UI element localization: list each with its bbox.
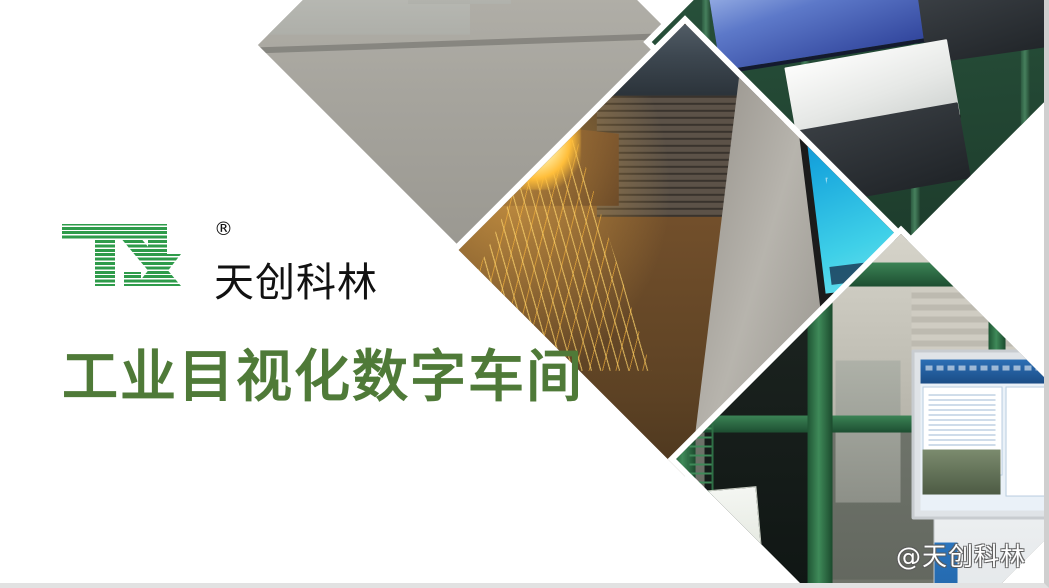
tile-steel-plates [652,0,1049,268]
photo-workshop-kiosk: JIER JIER [676,234,1049,588]
kiosk-display [912,350,1049,520]
company-logo: ® 天创科林 [62,220,382,302]
photo-factory-gate [258,0,682,257]
slide-canvas: JIER JIER [0,0,1049,588]
photo-steel-plates [652,0,1049,268]
company-name-cn: 天创科林 [214,250,378,308]
registered-trademark-icon: ® [214,220,233,239]
tile-workshop-kiosk: JIER JIER [676,234,1049,588]
tk-monogram-icon [62,220,210,286]
slide-title: 工业目视化数字车间 [62,346,584,410]
tile-factory-gate [258,0,682,257]
watermark-label: @天创科林 [896,537,1026,573]
jier-board: JIER [676,486,764,586]
